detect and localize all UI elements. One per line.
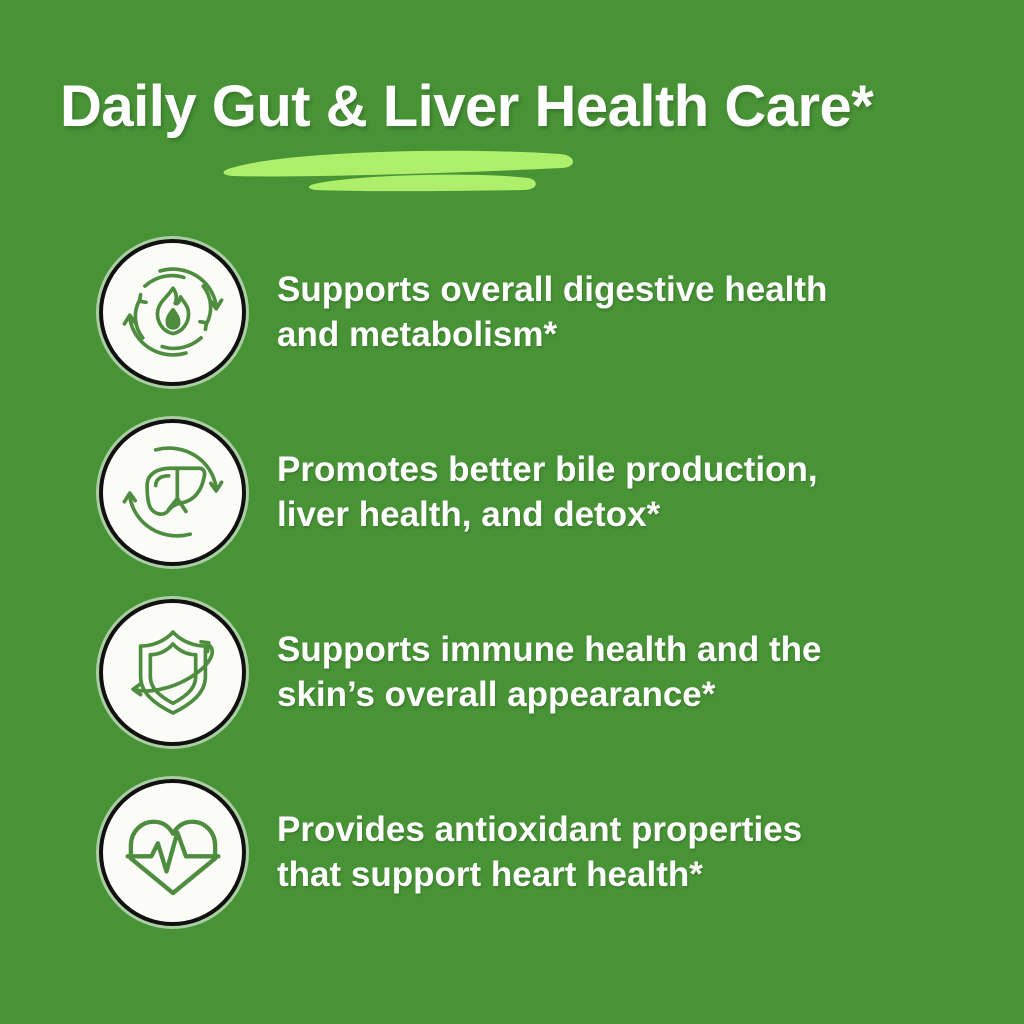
benefit-text-line: skin’s overall appearance* (277, 672, 821, 717)
liver-cycle-icon (99, 419, 246, 566)
page-title: Daily Gut & Liver Health Care* (60, 76, 980, 138)
benefit-text-line: Provides antioxidant properties (277, 807, 802, 852)
poster-header: Daily Gut & Liver Health Care* (0, 0, 1024, 200)
benefit-text: Supports overall digestive health and me… (277, 267, 827, 357)
benefit-text-line: Supports overall digestive health (277, 267, 827, 312)
benefit-row: Supports immune health and the skin’s ov… (0, 582, 1024, 762)
benefit-text-line: liver health, and detox* (277, 492, 818, 537)
benefit-text-line: that support heart health* (277, 852, 802, 897)
benefit-text-line: and metabolism* (277, 312, 827, 357)
hand-drawn-underline-swoosh-icon (210, 142, 590, 194)
benefit-text-line: Supports immune health and the (277, 627, 821, 672)
benefit-row: Provides antioxidant properties that sup… (0, 762, 1024, 942)
benefit-text: Provides antioxidant properties that sup… (277, 807, 802, 897)
shield-swoosh-icon (99, 599, 246, 746)
heart-pulse-icon (99, 779, 246, 926)
benefit-row: Promotes better bile production, liver h… (0, 402, 1024, 582)
benefit-text: Supports immune health and the skin’s ov… (277, 627, 821, 717)
metabolism-flame-cycle-icon (99, 239, 246, 386)
benefit-text: Promotes better bile production, liver h… (277, 447, 818, 537)
promo-poster: Daily Gut & Liver Health Care* (0, 0, 1024, 1024)
benefits-list: Supports overall digestive health and me… (0, 222, 1024, 942)
benefit-text-line: Promotes better bile production, (277, 447, 818, 492)
benefit-row: Supports overall digestive health and me… (0, 222, 1024, 402)
